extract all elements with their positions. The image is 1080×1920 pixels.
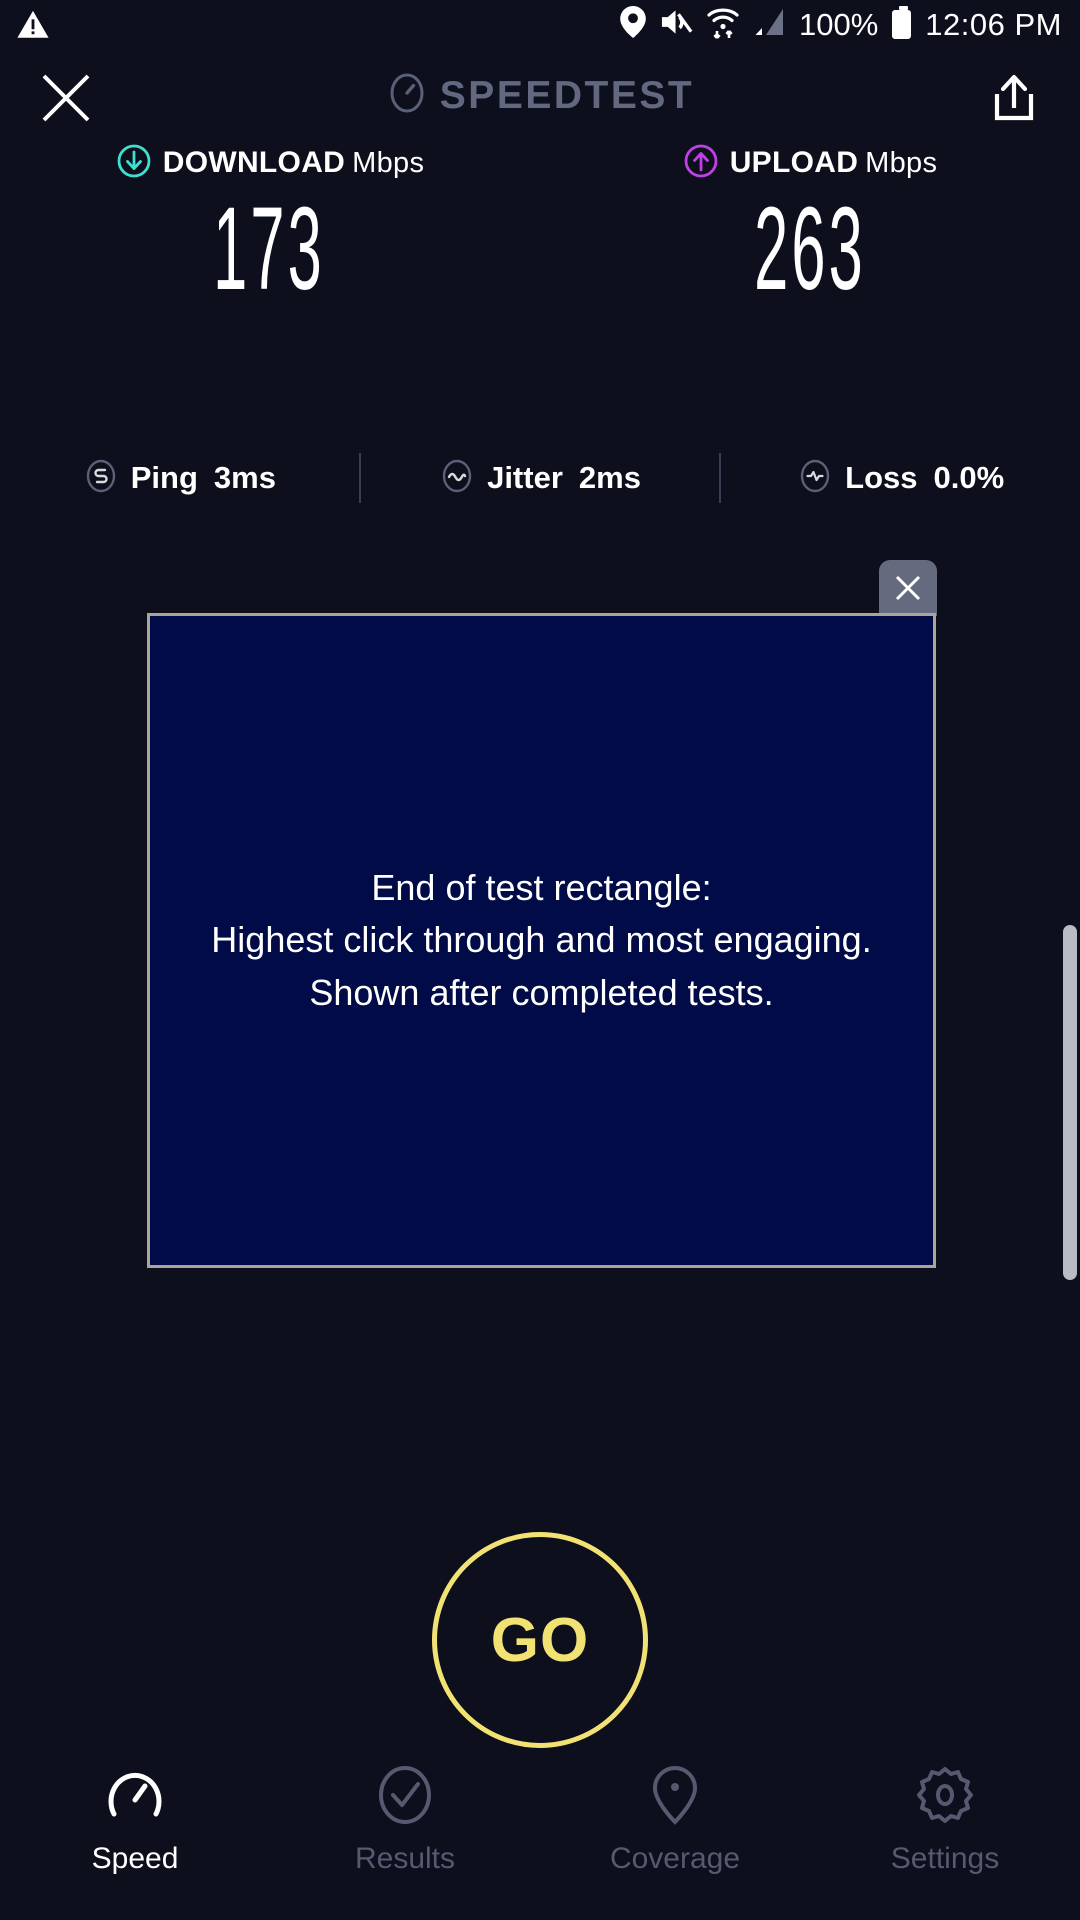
download-label: DOWNLOADMbps: [163, 146, 425, 180]
vertical-scrollbar[interactable]: [1063, 925, 1077, 1280]
go-button[interactable]: GO: [432, 1532, 648, 1748]
download-arrow-icon: [116, 143, 152, 184]
gear-icon: [912, 1762, 978, 1828]
volume-mute-icon: [660, 7, 693, 42]
speedtest-app-screen: 100% 12:06 PM SPEEDTEST: [0, 0, 1080, 1920]
location-pin-icon: [620, 6, 646, 43]
ad-line: Shown after completed tests.: [211, 967, 871, 1019]
status-icons: 100% 12:06 PM: [620, 5, 1062, 44]
battery-percentage: 100%: [799, 7, 878, 43]
brand-lockup: SPEEDTEST: [0, 72, 1080, 119]
upload-arrow-icon: [683, 143, 719, 184]
ping-label: Ping: [131, 460, 198, 496]
brand-title: SPEEDTEST: [440, 74, 694, 118]
nav-item-results[interactable]: Results: [270, 1762, 540, 1876]
battery-full-icon: [892, 10, 911, 39]
nav-item-coverage[interactable]: Coverage: [540, 1762, 810, 1876]
nav-label-results: Results: [355, 1842, 455, 1876]
connection-stats-row: Ping 3ms Jitter 2ms: [0, 450, 1080, 506]
upload-value: 263: [670, 190, 951, 308]
nav-label-speed: Speed: [92, 1842, 179, 1876]
nav-item-settings[interactable]: Settings: [810, 1762, 1080, 1876]
jitter-icon: [439, 458, 475, 499]
loss-stat: Loss 0.0%: [721, 458, 1080, 499]
app-header: SPEEDTEST: [0, 56, 1080, 140]
nav-label-coverage: Coverage: [610, 1842, 740, 1876]
speedometer-icon: [102, 1762, 168, 1828]
status-bar: 100% 12:06 PM: [0, 0, 1080, 56]
ping-value: 3ms: [214, 460, 276, 496]
download-value: 173: [128, 190, 410, 308]
bottom-navigation-bar: Speed Results Coverage: [0, 1750, 1080, 1920]
loss-label: Loss: [845, 460, 917, 496]
speed-values-row: DOWNLOADMbps 173 UPLOADMbps 263: [0, 140, 1080, 308]
wifi-icon: [707, 5, 739, 44]
jitter-stat: Jitter 2ms: [361, 458, 720, 499]
jitter-label: Jitter: [487, 460, 563, 496]
download-heading: DOWNLOADMbps: [0, 140, 540, 186]
go-button-label: GO: [491, 1605, 589, 1676]
speedtest-gauge-icon: [386, 72, 428, 119]
ad-line: End of test rectangle:: [211, 862, 871, 914]
ad-text-block: End of test rectangle: Highest click thr…: [211, 862, 871, 1019]
map-pin-icon: [642, 1762, 708, 1828]
upload-label: UPLOADMbps: [730, 146, 938, 180]
loss-value: 0.0%: [934, 460, 1005, 496]
download-result: DOWNLOADMbps 173: [0, 140, 540, 308]
nav-item-speed[interactable]: Speed: [0, 1762, 270, 1876]
ping-stat: Ping 3ms: [0, 458, 359, 499]
advertisement-banner[interactable]: End of test rectangle: Highest click thr…: [147, 613, 936, 1268]
loss-icon: [797, 458, 833, 499]
ping-icon: [83, 458, 119, 499]
warning-triangle-icon: [16, 8, 50, 47]
ad-line: Highest click through and most engaging.: [211, 914, 871, 966]
share-upload-icon[interactable]: [984, 68, 1044, 128]
test-results-panel: DOWNLOADMbps 173 UPLOADMbps 263: [0, 140, 1080, 308]
clock-time: 12:06 PM: [925, 7, 1062, 43]
jitter-value: 2ms: [579, 460, 641, 496]
upload-heading: UPLOADMbps: [540, 140, 1080, 186]
cellular-signal-icon: [753, 7, 785, 42]
upload-result: UPLOADMbps 263: [540, 140, 1080, 308]
check-circle-icon: [372, 1762, 438, 1828]
nav-label-settings: Settings: [891, 1842, 999, 1876]
ad-close-x-icon[interactable]: [879, 560, 937, 616]
